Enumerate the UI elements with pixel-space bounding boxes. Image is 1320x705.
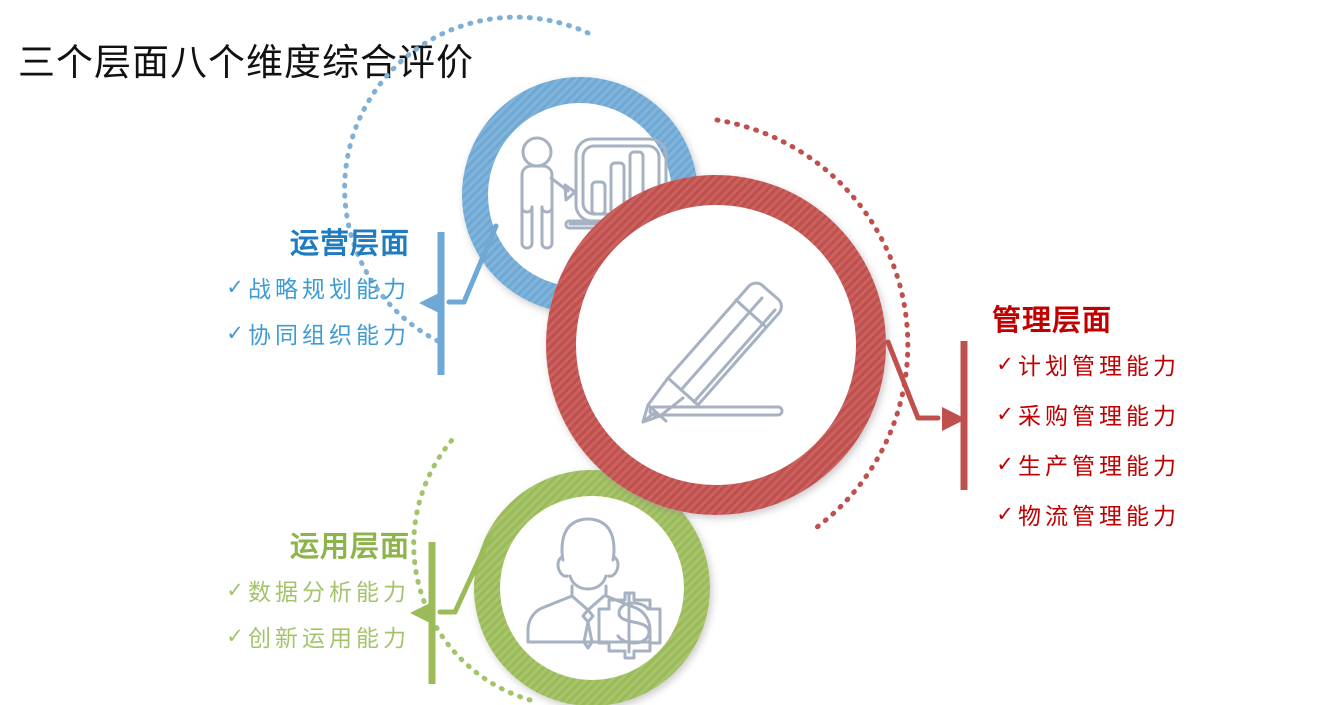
list-item[interactable]: ✓ 计划管理能力 <box>992 347 1292 381</box>
list-item[interactable]: ✓ 生产管理能力 <box>992 447 1292 481</box>
list-item-label: 数据分析能力 <box>248 573 410 607</box>
list-item-label: 生产管理能力 <box>1018 447 1180 481</box>
check-icon: ✓ <box>222 624 248 649</box>
list-item-label: 创新运用能力 <box>248 619 410 653</box>
list-item-label: 协同组织能力 <box>248 316 410 350</box>
list-item-label: 战略规划能力 <box>248 270 410 304</box>
group-application: 运用层面 ✓ 数据分析能力 ✓ 创新运用能力 <box>150 523 410 665</box>
arrow-head-left-blue <box>419 292 441 314</box>
group-operations-heading: 运营层面 <box>150 220 410 262</box>
list-item[interactable]: ✓ 数据分析能力 <box>150 573 410 607</box>
group-management: 管理层面 ✓ 计划管理能力 ✓ 采购管理能力 ✓ 生产管理能力 ✓ 物流管理能力 <box>992 297 1292 547</box>
list-item-label: 物流管理能力 <box>1018 497 1180 531</box>
list-item[interactable]: ✓ 战略规划能力 <box>150 270 410 304</box>
list-item[interactable]: ✓ 采购管理能力 <box>992 397 1292 431</box>
list-item-label: 计划管理能力 <box>1018 347 1180 381</box>
operations-connector <box>419 226 496 375</box>
check-icon: ✓ <box>992 452 1018 477</box>
check-icon: ✓ <box>992 502 1018 527</box>
list-item[interactable]: ✓ 创新运用能力 <box>150 619 410 653</box>
group-application-list: ✓ 数据分析能力 ✓ 创新运用能力 <box>150 573 410 653</box>
list-item-label: 采购管理能力 <box>1018 397 1180 431</box>
group-management-heading: 管理层面 <box>992 297 1292 339</box>
check-icon: ✓ <box>992 402 1018 427</box>
group-operations: 运营层面 ✓ 战略规划能力 ✓ 协同组织能力 <box>150 220 410 362</box>
check-icon: ✓ <box>222 578 248 603</box>
slide-canvas: 三个层面八个维度综合评价 <box>0 0 1320 705</box>
group-operations-list: ✓ 战略规划能力 ✓ 协同组织能力 <box>150 270 410 350</box>
list-item[interactable]: ✓ 协同组织能力 <box>150 316 410 350</box>
check-icon: ✓ <box>992 352 1018 377</box>
check-icon: ✓ <box>222 321 248 346</box>
circle-management[interactable] <box>546 175 886 515</box>
management-connector <box>888 341 966 490</box>
list-item[interactable]: ✓ 物流管理能力 <box>992 497 1292 531</box>
arrow-head-left-green <box>410 602 432 624</box>
group-application-heading: 运用层面 <box>150 523 410 565</box>
group-management-list: ✓ 计划管理能力 ✓ 采购管理能力 ✓ 生产管理能力 ✓ 物流管理能力 <box>992 347 1292 531</box>
check-icon: ✓ <box>222 275 248 300</box>
